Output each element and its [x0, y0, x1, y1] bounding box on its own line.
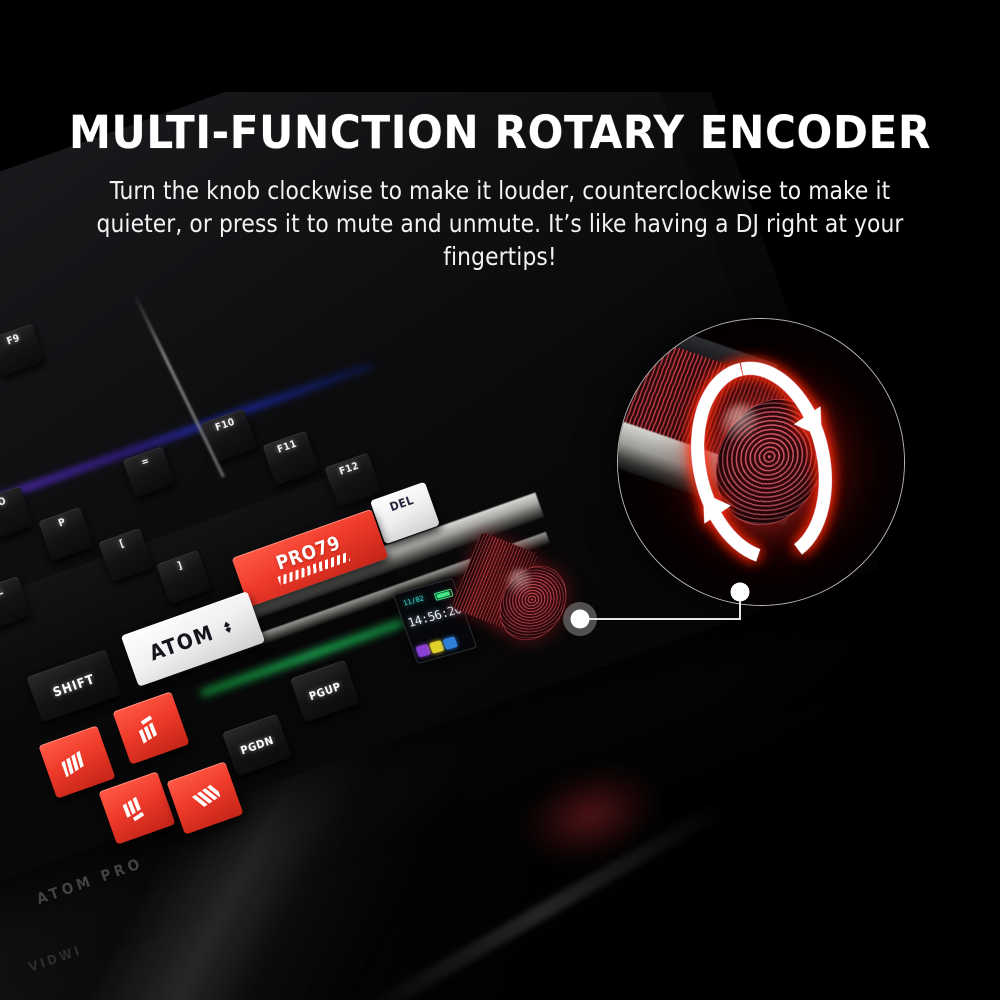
callout-target-dot	[731, 583, 750, 602]
page-description: Turn the knob clockwise to make it loude…	[89, 175, 911, 273]
callout-line	[580, 596, 740, 619]
page-title: MULTI-FUNCTION ROTARY ENCODER	[0, 92, 1000, 155]
callout-source-dot	[571, 610, 590, 629]
promo-stage: ATOM PRO VIDWI F9 F10 F11 F12 O P [ ] =	[0, 0, 1000, 1000]
header-block: MULTI-FUNCTION ROTARY ENCODER Turn the k…	[0, 92, 1000, 273]
top-black-band	[0, 0, 1000, 92]
